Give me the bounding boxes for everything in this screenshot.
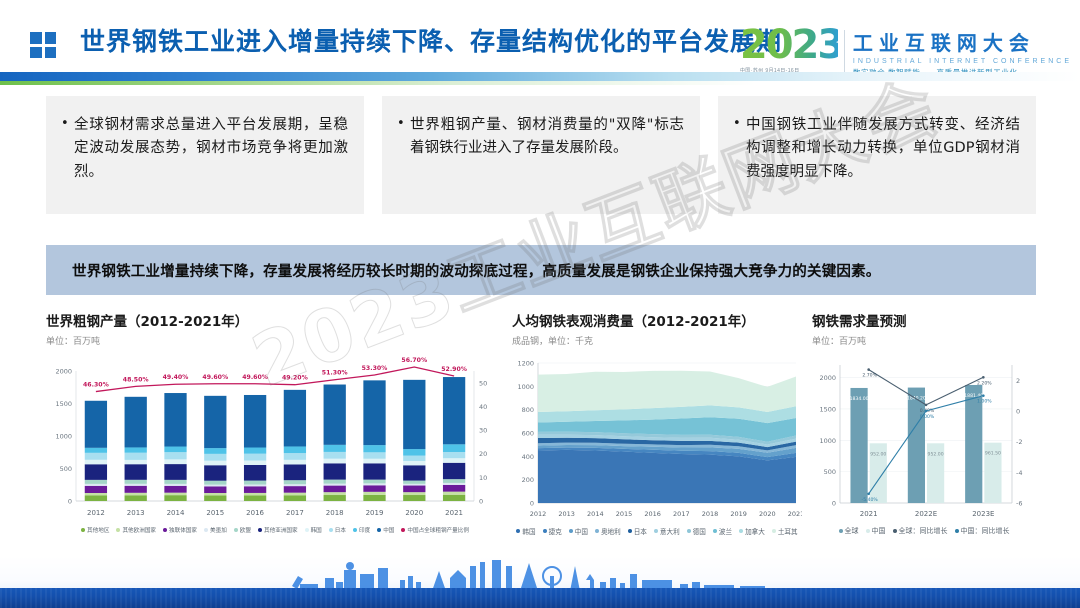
svg-text:2000: 2000 — [819, 374, 836, 382]
legend-label: 全球：同比增长 — [899, 526, 948, 536]
grid-squares-icon — [30, 32, 56, 58]
key-conclusion-text: 世界钢铁工业增量持续下降，存量发展将经历较长时期的波动探底过程，高质量发展是钢铁… — [72, 260, 881, 281]
footer-blue-band — [0, 588, 1080, 608]
chart-1-svg: 0500100015002000010203040502012201320142… — [46, 353, 504, 523]
legend-swatch — [595, 529, 599, 533]
svg-text:56.70%: 56.70% — [401, 357, 427, 364]
svg-text:2021: 2021 — [788, 510, 802, 518]
legend-label: 印度 — [359, 526, 370, 534]
svg-text:2013: 2013 — [558, 510, 575, 518]
svg-text:2016: 2016 — [246, 509, 264, 517]
legend-swatch — [401, 528, 405, 532]
svg-text:-4: -4 — [1016, 469, 1022, 477]
legend-label: 其他亚洲国家 — [264, 526, 298, 534]
legend-swatch — [258, 528, 262, 532]
logo-name-en: INDUSTRIAL INTERNET CONFERENCE — [853, 58, 1072, 65]
legend-label: 中国占全球粗钢产量比例 — [407, 526, 469, 534]
legend-swatch — [893, 529, 897, 533]
bullet-card-3: 中国钢铁工业伴随发展方式转变、经济结构调整和增长动力转换，单位GDP钢材消费强度… — [718, 96, 1036, 214]
legend-swatch — [654, 529, 658, 533]
legend-swatch — [713, 529, 717, 533]
svg-text:1500: 1500 — [55, 400, 72, 408]
legend-swatch — [163, 528, 167, 532]
svg-text:49.60%: 49.60% — [242, 374, 268, 381]
page-title: 世界钢铁工业进入增量持续下降、存量结构优化的平台发展期 — [80, 22, 782, 58]
legend-item: 其他地区 — [81, 526, 109, 534]
chart-unit: 单位：百万吨 — [46, 334, 504, 347]
legend-item: 土耳其 — [772, 526, 798, 536]
legend-item: 捷克 — [543, 526, 562, 536]
svg-text:0: 0 — [530, 500, 534, 508]
chart-2-legend: 韩国捷克中国奥地利日本意大利德国波兰加拿大土耳其 — [512, 526, 802, 536]
chart-2-svg: 0200400600800100012002012201320142015201… — [512, 353, 802, 523]
svg-text:2.70%: 2.70% — [862, 373, 877, 379]
svg-text:2020: 2020 — [759, 510, 776, 518]
chart-plot-area: 0500100015002000-6-4-2021834.00952.00202… — [812, 353, 1036, 523]
legend-label: 捷克 — [549, 526, 562, 536]
svg-text:2016: 2016 — [644, 510, 661, 518]
legend-label: 全球 — [845, 526, 859, 536]
legend-item: 德国 — [687, 526, 706, 536]
bullet-text: 世界粗钢产量、钢材消费量的"双降"标志着钢铁行业进入了存量发展阶段。 — [396, 114, 684, 161]
chart-3-legend: 全球中国全球：同比增长中国：同比增长 — [812, 526, 1036, 536]
svg-text:-6: -6 — [1016, 500, 1022, 508]
svg-text:500: 500 — [824, 468, 836, 476]
svg-text:20: 20 — [479, 450, 487, 458]
legend-item: 韩国 — [516, 526, 535, 536]
legend-item: 其他欧洲国家 — [116, 526, 156, 534]
svg-text:2017: 2017 — [286, 509, 304, 517]
legend-label: 韩国 — [311, 526, 322, 534]
legend-item: 中国 — [377, 526, 394, 534]
legend-item: 波兰 — [713, 526, 732, 536]
legend-label: 其他欧洲国家 — [122, 526, 156, 534]
svg-text:2021: 2021 — [860, 510, 878, 518]
bullet-cards: 全球钢材需求总量进入平台发展期，呈稳定波动发展态势，钢材市场竞争将更加激烈。 世… — [46, 96, 1036, 214]
svg-text:2018: 2018 — [702, 510, 719, 518]
city-skyline-icon — [0, 556, 1080, 591]
chart-title: 钢铁需求量预测 — [812, 310, 1036, 330]
legend-swatch — [543, 529, 547, 533]
legend-label: 中国 — [872, 526, 886, 536]
legend-label: 德国 — [693, 526, 706, 536]
svg-text:30: 30 — [479, 427, 487, 435]
svg-text:49.60%: 49.60% — [202, 374, 228, 381]
legend-item: 加拿大 — [739, 526, 765, 536]
legend-swatch — [516, 529, 520, 533]
svg-text:2019: 2019 — [730, 510, 747, 518]
svg-text:1000: 1000 — [55, 433, 72, 441]
legend-swatch — [569, 529, 573, 533]
svg-text:952.00: 952.00 — [870, 451, 886, 457]
svg-text:49.40%: 49.40% — [163, 374, 189, 381]
legend-swatch — [116, 528, 120, 532]
chart-title: 人均钢铁表观消费量（2012-2021年） — [512, 310, 802, 330]
legend-label: 独联体国家 — [169, 526, 197, 534]
chart-steel-demand-forecast: 钢铁需求量预测 单位：百万吨 0500100015002000-6-4-2021… — [812, 310, 1036, 550]
svg-text:51.30%: 51.30% — [322, 370, 348, 377]
legend-label: 波兰 — [719, 526, 732, 536]
svg-text:1000: 1000 — [517, 383, 534, 391]
header-rule-blue — [0, 72, 1080, 81]
legend-item: 印度 — [353, 526, 370, 534]
legend-label: 土耳其 — [778, 526, 798, 536]
svg-text:2015: 2015 — [206, 509, 224, 517]
charts-row: 世界粗钢产量（2012-2021年） 单位：百万吨 05001000150020… — [46, 310, 1036, 550]
legend-swatch — [628, 529, 632, 533]
svg-text:0: 0 — [1016, 408, 1020, 416]
svg-text:2017: 2017 — [673, 510, 690, 518]
legend-swatch — [377, 528, 381, 532]
legend-item: 独联体国家 — [163, 526, 197, 534]
svg-text:10: 10 — [479, 474, 487, 482]
svg-text:2015: 2015 — [616, 510, 633, 518]
legend-label: 加拿大 — [745, 526, 765, 536]
legend-item: 中国：同比增长 — [955, 526, 1010, 536]
bullet-text: 中国钢铁工业伴随发展方式转变、经济结构调整和增长动力转换，单位GDP钢材消费强度… — [732, 114, 1020, 184]
svg-text:1500: 1500 — [819, 405, 836, 413]
legend-label: 日本 — [634, 526, 647, 536]
legend-label: 奥地利 — [601, 526, 621, 536]
svg-text:49.20%: 49.20% — [282, 375, 308, 382]
bullet-card-1: 全球钢材需求总量进入平台发展期，呈稳定波动发展态势，钢材市场竞争将更加激烈。 — [46, 96, 364, 214]
svg-text:2.20%: 2.20% — [977, 380, 992, 386]
svg-text:0: 0 — [68, 498, 72, 506]
legend-label: 意大利 — [660, 526, 680, 536]
legend-item: 奥地利 — [595, 526, 621, 536]
svg-text:0.00%: 0.00% — [920, 414, 935, 420]
legend-item: 中国 — [569, 526, 588, 536]
chart-plot-area: 0500100015002000010203040502012201320142… — [46, 353, 504, 523]
svg-text:2000: 2000 — [55, 368, 72, 376]
svg-text:1.00%: 1.00% — [977, 399, 992, 405]
svg-text:46.30%: 46.30% — [83, 382, 109, 389]
bullet-text: 全球钢材需求总量进入平台发展期，呈稳定波动发展态势，钢材市场竞争将更加激烈。 — [60, 114, 348, 184]
svg-text:2013: 2013 — [127, 509, 145, 517]
legend-item: 日本 — [628, 526, 647, 536]
legend-label: 美墨加 — [210, 526, 227, 534]
svg-text:2014: 2014 — [587, 510, 604, 518]
legend-swatch — [234, 528, 238, 532]
chart-crude-steel-production: 世界粗钢产量（2012-2021年） 单位：百万吨 05001000150020… — [46, 310, 504, 550]
legend-item: 欧盟 — [234, 526, 251, 534]
legend-item: 其他亚洲国家 — [258, 526, 298, 534]
legend-swatch — [305, 528, 309, 532]
svg-text:2023E: 2023E — [972, 510, 994, 518]
page-header: 世界钢铁工业进入增量持续下降、存量结构优化的平台发展期 2023 中国·苏州 9… — [0, 0, 1080, 88]
svg-text:2018: 2018 — [326, 509, 344, 517]
svg-text:400: 400 — [522, 453, 534, 461]
chart-title: 世界粗钢产量（2012-2021年） — [46, 310, 504, 330]
svg-text:2021: 2021 — [445, 509, 463, 517]
logo-name-cn: 工业互联网大会 — [853, 27, 1072, 56]
legend-swatch — [772, 529, 776, 533]
svg-text:2022E: 2022E — [915, 510, 937, 518]
chart-unit: 成品钢，单位：千克 — [512, 334, 802, 347]
svg-text:600: 600 — [522, 430, 534, 438]
legend-item: 全球 — [839, 526, 859, 536]
svg-text:53.30%: 53.30% — [362, 365, 388, 372]
svg-text:200: 200 — [522, 476, 534, 484]
svg-text:2: 2 — [1016, 377, 1020, 385]
legend-label: 日本 — [335, 526, 346, 534]
legend-label: 欧盟 — [240, 526, 251, 534]
legend-swatch — [839, 529, 843, 533]
svg-text:48.50%: 48.50% — [123, 376, 149, 383]
logo-divider — [844, 30, 845, 76]
legend-label: 中国：同比增长 — [961, 526, 1010, 536]
svg-text:40: 40 — [479, 403, 487, 411]
chart-per-capita-consumption: 人均钢铁表观消费量（2012-2021年） 成品钢，单位：千克 02004006… — [512, 310, 802, 550]
svg-text:1000: 1000 — [819, 437, 836, 445]
svg-text:2012: 2012 — [87, 509, 105, 517]
svg-text:1834.00: 1834.00 — [850, 396, 869, 402]
chart-1-legend: 其他地区其他欧洲国家独联体国家美墨加欧盟其他亚洲国家韩国日本印度中国中国占全球粗… — [46, 526, 504, 534]
legend-label: 中国 — [575, 526, 588, 536]
svg-text:0: 0 — [479, 498, 483, 506]
svg-text:50: 50 — [479, 379, 487, 387]
legend-item: 意大利 — [654, 526, 680, 536]
svg-text:952.00: 952.00 — [928, 451, 944, 457]
key-conclusion-bar: 世界钢铁工业增量持续下降，存量发展将经历较长时期的波动探底过程，高质量发展是钢铁… — [46, 245, 1036, 295]
svg-text:-2: -2 — [1016, 438, 1022, 446]
svg-text:2014: 2014 — [167, 509, 185, 517]
legend-label: 中国 — [383, 526, 394, 534]
chart-plot-area: 0200400600800100012002012201320142015201… — [512, 353, 802, 523]
legend-item: 美墨加 — [204, 526, 227, 534]
chart-3-svg: 0500100015002000-6-4-2021834.00952.00202… — [812, 353, 1036, 523]
legend-swatch — [204, 528, 208, 532]
svg-text:1200: 1200 — [517, 360, 534, 368]
legend-swatch — [687, 529, 691, 533]
legend-label: 韩国 — [522, 526, 535, 536]
chart-unit: 单位：百万吨 — [812, 334, 1036, 347]
legend-swatch — [866, 529, 870, 533]
logo-year: 2023 — [740, 24, 838, 66]
legend-swatch — [955, 529, 959, 533]
svg-text:52.90%: 52.90% — [441, 366, 467, 373]
svg-text:2020: 2020 — [405, 509, 423, 517]
legend-item: 中国占全球粗钢产量比例 — [401, 526, 469, 534]
svg-text:0: 0 — [832, 500, 836, 508]
legend-item: 韩国 — [305, 526, 322, 534]
svg-text:961.50: 961.50 — [985, 451, 1001, 457]
legend-item: 中国 — [866, 526, 886, 536]
legend-swatch — [329, 528, 333, 532]
bullet-card-2: 世界粗钢产量、钢材消费量的"双降"标志着钢铁行业进入了存量发展阶段。 — [382, 96, 700, 214]
legend-item: 日本 — [329, 526, 346, 534]
svg-text:2019: 2019 — [366, 509, 384, 517]
legend-item: 全球：同比增长 — [893, 526, 948, 536]
legend-swatch — [353, 528, 357, 532]
svg-text:500: 500 — [60, 465, 72, 473]
footer-skyline — [0, 556, 1080, 591]
page-footer — [0, 556, 1080, 608]
legend-swatch — [739, 529, 743, 533]
legend-swatch — [81, 528, 85, 532]
svg-text:800: 800 — [522, 406, 534, 414]
header-rule-green — [0, 81, 1080, 85]
legend-label: 其他地区 — [87, 526, 109, 534]
svg-text:2012: 2012 — [530, 510, 547, 518]
svg-text:-5.40%: -5.40% — [862, 497, 879, 503]
